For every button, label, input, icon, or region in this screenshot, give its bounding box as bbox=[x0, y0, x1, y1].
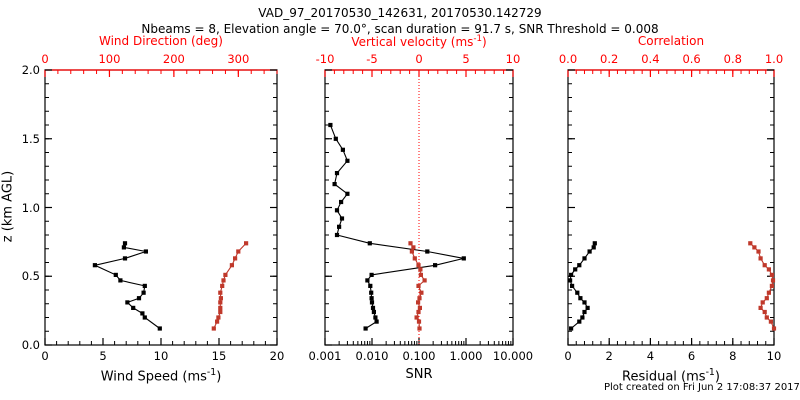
data-point bbox=[123, 241, 127, 245]
data-point bbox=[569, 273, 573, 277]
data-point bbox=[328, 123, 332, 127]
data-point bbox=[763, 263, 767, 267]
data-point bbox=[122, 245, 126, 249]
data-point bbox=[763, 310, 767, 314]
data-point bbox=[771, 278, 775, 282]
data-point bbox=[756, 249, 760, 253]
data-point bbox=[370, 300, 374, 304]
data-point bbox=[371, 306, 375, 310]
data-point bbox=[244, 241, 248, 245]
data-point bbox=[767, 291, 771, 295]
data-point bbox=[417, 326, 421, 330]
data-point bbox=[593, 241, 597, 245]
data-point bbox=[345, 192, 349, 196]
data-point bbox=[416, 284, 420, 288]
data-point bbox=[580, 315, 584, 319]
data-point bbox=[143, 315, 147, 319]
data-point bbox=[365, 278, 369, 282]
data-point bbox=[418, 306, 422, 310]
data-point bbox=[592, 245, 596, 249]
data-point bbox=[752, 245, 756, 249]
data-point bbox=[582, 256, 586, 260]
data-point bbox=[372, 310, 376, 314]
data-point bbox=[575, 291, 579, 295]
data-point bbox=[230, 263, 234, 267]
data-point bbox=[221, 278, 225, 282]
data-point bbox=[219, 296, 223, 300]
data-point bbox=[419, 291, 423, 295]
data-point bbox=[410, 249, 414, 253]
data-point bbox=[335, 171, 339, 175]
data-point bbox=[131, 306, 135, 310]
data-point bbox=[770, 273, 774, 277]
data-point bbox=[140, 311, 144, 315]
data-point bbox=[137, 296, 141, 300]
data-point bbox=[220, 284, 224, 288]
data-point bbox=[93, 263, 97, 267]
data-point bbox=[369, 291, 373, 295]
data-point bbox=[212, 326, 216, 330]
plot-canvas: VAD_97_20170530_142631, 20170530.142729 … bbox=[0, 0, 800, 400]
data-point bbox=[233, 256, 237, 260]
data-point bbox=[375, 320, 379, 324]
data-point bbox=[423, 278, 427, 282]
data-point bbox=[417, 320, 421, 324]
data-point bbox=[370, 296, 374, 300]
creation-timestamp: Plot created on Fri Jun 2 17:08:37 2017 bbox=[604, 382, 800, 393]
data-point bbox=[417, 296, 421, 300]
data-point bbox=[114, 273, 118, 277]
data-point bbox=[370, 273, 374, 277]
data-point bbox=[462, 256, 466, 260]
data-point bbox=[218, 306, 222, 310]
data-point bbox=[339, 200, 343, 204]
data-point bbox=[569, 326, 573, 330]
data-point bbox=[368, 241, 372, 245]
data-point bbox=[337, 225, 341, 229]
data-point bbox=[118, 278, 122, 282]
data-point bbox=[418, 267, 422, 271]
data-point bbox=[759, 256, 763, 260]
data-point bbox=[765, 315, 769, 319]
data-point bbox=[364, 326, 368, 330]
data-point bbox=[570, 284, 574, 288]
panel-wind-series-wind-speed bbox=[93, 241, 162, 330]
data-point bbox=[578, 296, 582, 300]
data-point bbox=[419, 273, 423, 277]
plot-svg bbox=[0, 0, 800, 400]
data-point bbox=[765, 296, 769, 300]
data-point bbox=[411, 245, 415, 249]
data-point bbox=[341, 148, 345, 152]
data-point bbox=[333, 182, 337, 186]
data-point bbox=[368, 284, 372, 288]
data-point bbox=[761, 300, 765, 304]
data-point bbox=[408, 241, 412, 245]
data-point bbox=[123, 256, 127, 260]
data-point bbox=[373, 315, 377, 319]
panel-snr-series-snr bbox=[328, 123, 466, 331]
data-point bbox=[759, 306, 763, 310]
data-point bbox=[748, 241, 752, 245]
data-point bbox=[767, 267, 771, 271]
data-point bbox=[142, 291, 146, 295]
data-point bbox=[413, 256, 417, 260]
data-point bbox=[770, 284, 774, 288]
data-point bbox=[236, 249, 240, 253]
data-point bbox=[573, 267, 577, 271]
data-point bbox=[335, 233, 339, 237]
panel-residual-series-residual bbox=[568, 241, 597, 330]
data-point bbox=[588, 249, 592, 253]
data-point bbox=[158, 326, 162, 330]
data-point bbox=[334, 137, 338, 141]
data-point bbox=[340, 216, 344, 220]
data-point bbox=[345, 159, 349, 163]
data-point bbox=[433, 263, 437, 267]
data-point bbox=[125, 300, 129, 304]
data-point bbox=[582, 300, 586, 304]
data-point bbox=[772, 326, 776, 330]
data-point bbox=[335, 208, 339, 212]
data-point bbox=[218, 300, 222, 304]
data-point bbox=[218, 291, 222, 295]
data-point bbox=[416, 310, 420, 314]
data-point bbox=[568, 278, 572, 282]
data-point bbox=[577, 263, 581, 267]
panel-wind-series-wind-direction bbox=[212, 241, 249, 330]
data-point bbox=[582, 310, 586, 314]
panel-snr-series-vertical-velocity bbox=[408, 241, 426, 330]
data-point bbox=[223, 273, 227, 277]
data-point bbox=[218, 310, 222, 314]
data-point bbox=[416, 263, 420, 267]
panel-wind-frame bbox=[45, 70, 277, 345]
data-point bbox=[416, 300, 420, 304]
data-point bbox=[144, 249, 148, 253]
data-point bbox=[769, 320, 773, 324]
data-point bbox=[143, 284, 147, 288]
panel-residual-frame bbox=[568, 70, 774, 345]
data-point bbox=[215, 320, 219, 324]
data-point bbox=[577, 320, 581, 324]
data-point bbox=[216, 315, 220, 319]
data-point bbox=[415, 315, 419, 319]
data-point bbox=[425, 249, 429, 253]
data-point bbox=[586, 306, 590, 310]
